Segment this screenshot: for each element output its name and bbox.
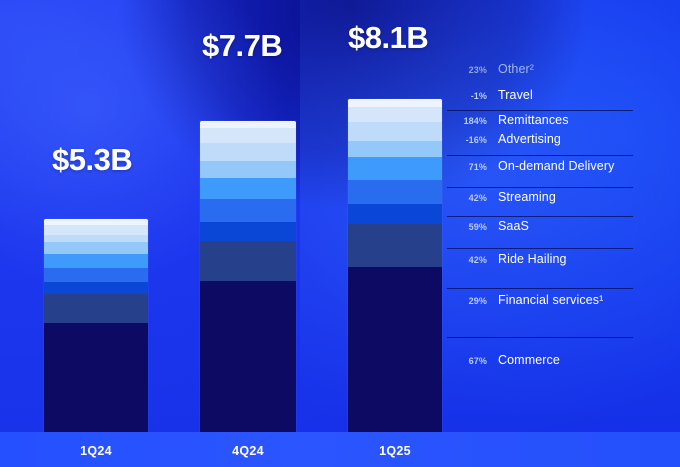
bar-segment[interactable]	[44, 235, 148, 242]
bar-segment[interactable]	[44, 282, 148, 294]
bar-segment[interactable]	[348, 141, 442, 157]
bar-segment[interactable]	[200, 161, 296, 179]
legend-category-label: Financial services¹	[498, 293, 603, 307]
legend-item[interactable]: 29%Financial services¹	[447, 293, 633, 307]
bar-value-label-1q25: $8.1B	[348, 22, 428, 53]
legend-separator	[447, 248, 633, 249]
bar-segment[interactable]	[200, 121, 296, 128]
bar-segment[interactable]	[200, 222, 296, 241]
bar-segment[interactable]	[200, 199, 296, 221]
legend-growth-percent: 23%	[447, 65, 487, 75]
legend-growth-percent: 42%	[447, 193, 487, 203]
legend-item[interactable]: 71%On-demand Delivery	[447, 159, 633, 173]
legend-category-label: Ride Hailing	[498, 252, 567, 266]
bar-segment[interactable]	[348, 204, 442, 225]
axis-label-1q25: 1Q25	[355, 444, 435, 458]
legend-growth-percent: 59%	[447, 222, 487, 232]
bar-value-label-1q24: $5.3B	[52, 144, 132, 175]
stacked-bar-4q24[interactable]	[200, 121, 296, 432]
bar-segment[interactable]	[348, 122, 442, 141]
bar-segment[interactable]	[200, 178, 296, 199]
bar-segment[interactable]	[200, 128, 296, 143]
bar-segment[interactable]	[44, 294, 148, 323]
legend-growth-percent: -16%	[447, 135, 487, 145]
bar-segment[interactable]	[348, 99, 442, 107]
bar-segment[interactable]	[44, 268, 148, 283]
legend-growth-percent: -1%	[447, 91, 487, 101]
legend-category-label: SaaS	[498, 219, 529, 233]
legend-item[interactable]: 67%Commerce	[447, 353, 633, 367]
bar-segment[interactable]	[348, 180, 442, 203]
legend-separator	[447, 110, 633, 111]
legend-growth-percent: 67%	[447, 356, 487, 366]
stacked-bar-1q25[interactable]	[348, 99, 442, 432]
chart-canvas: $5.3B $7.7B $8.1B 23%Other²-1%Travel184%…	[0, 0, 680, 467]
legend-item[interactable]: -1%Travel	[447, 88, 633, 102]
legend-item[interactable]: 184%Remittances	[447, 113, 633, 127]
axis-label-1q24: 1Q24	[56, 444, 136, 458]
legend-category-label: Streaming	[498, 190, 556, 204]
legend-category-label: Other²	[498, 62, 534, 76]
bar-segment[interactable]	[44, 254, 148, 267]
legend-separator	[447, 288, 633, 289]
legend-growth-percent: 71%	[447, 162, 487, 172]
legend-category-label: Remittances	[498, 113, 569, 127]
bar-segment[interactable]	[200, 143, 296, 161]
legend-growth-percent: 184%	[447, 116, 487, 126]
legend-category-label: Travel	[498, 88, 533, 102]
bar-segment[interactable]	[44, 323, 148, 432]
legend-item[interactable]: 59%SaaS	[447, 219, 633, 233]
bar-segment[interactable]	[44, 225, 148, 235]
bar-segment[interactable]	[200, 241, 296, 281]
legend-separator	[447, 337, 633, 338]
stacked-bar-1q24[interactable]	[44, 219, 148, 432]
legend-item[interactable]: 42%Ride Hailing	[447, 252, 633, 266]
legend-separator	[447, 216, 633, 217]
legend-category-label: On-demand Delivery	[498, 159, 614, 173]
legend-category-label: Commerce	[498, 353, 560, 367]
legend-growth-percent: 29%	[447, 296, 487, 306]
legend-item[interactable]: 42%Streaming	[447, 190, 633, 204]
legend-separator	[447, 187, 633, 188]
legend-item[interactable]: 23%Other²	[447, 62, 633, 76]
bar-segment[interactable]	[348, 107, 442, 122]
bar-value-label-4q24: $7.7B	[202, 30, 282, 61]
x-axis-strip: 1Q24 4Q24 1Q25	[0, 432, 680, 467]
bar-segment[interactable]	[348, 224, 442, 266]
bar-segment[interactable]	[348, 157, 442, 180]
bar-segment[interactable]	[44, 242, 148, 254]
bar-segment[interactable]	[200, 281, 296, 432]
legend-item[interactable]: -16%Advertising	[447, 132, 633, 146]
legend-growth-percent: 42%	[447, 255, 487, 265]
legend-category-label: Advertising	[498, 132, 561, 146]
axis-label-4q24: 4Q24	[208, 444, 288, 458]
bar-segment[interactable]	[348, 267, 442, 432]
legend-separator	[447, 155, 633, 156]
